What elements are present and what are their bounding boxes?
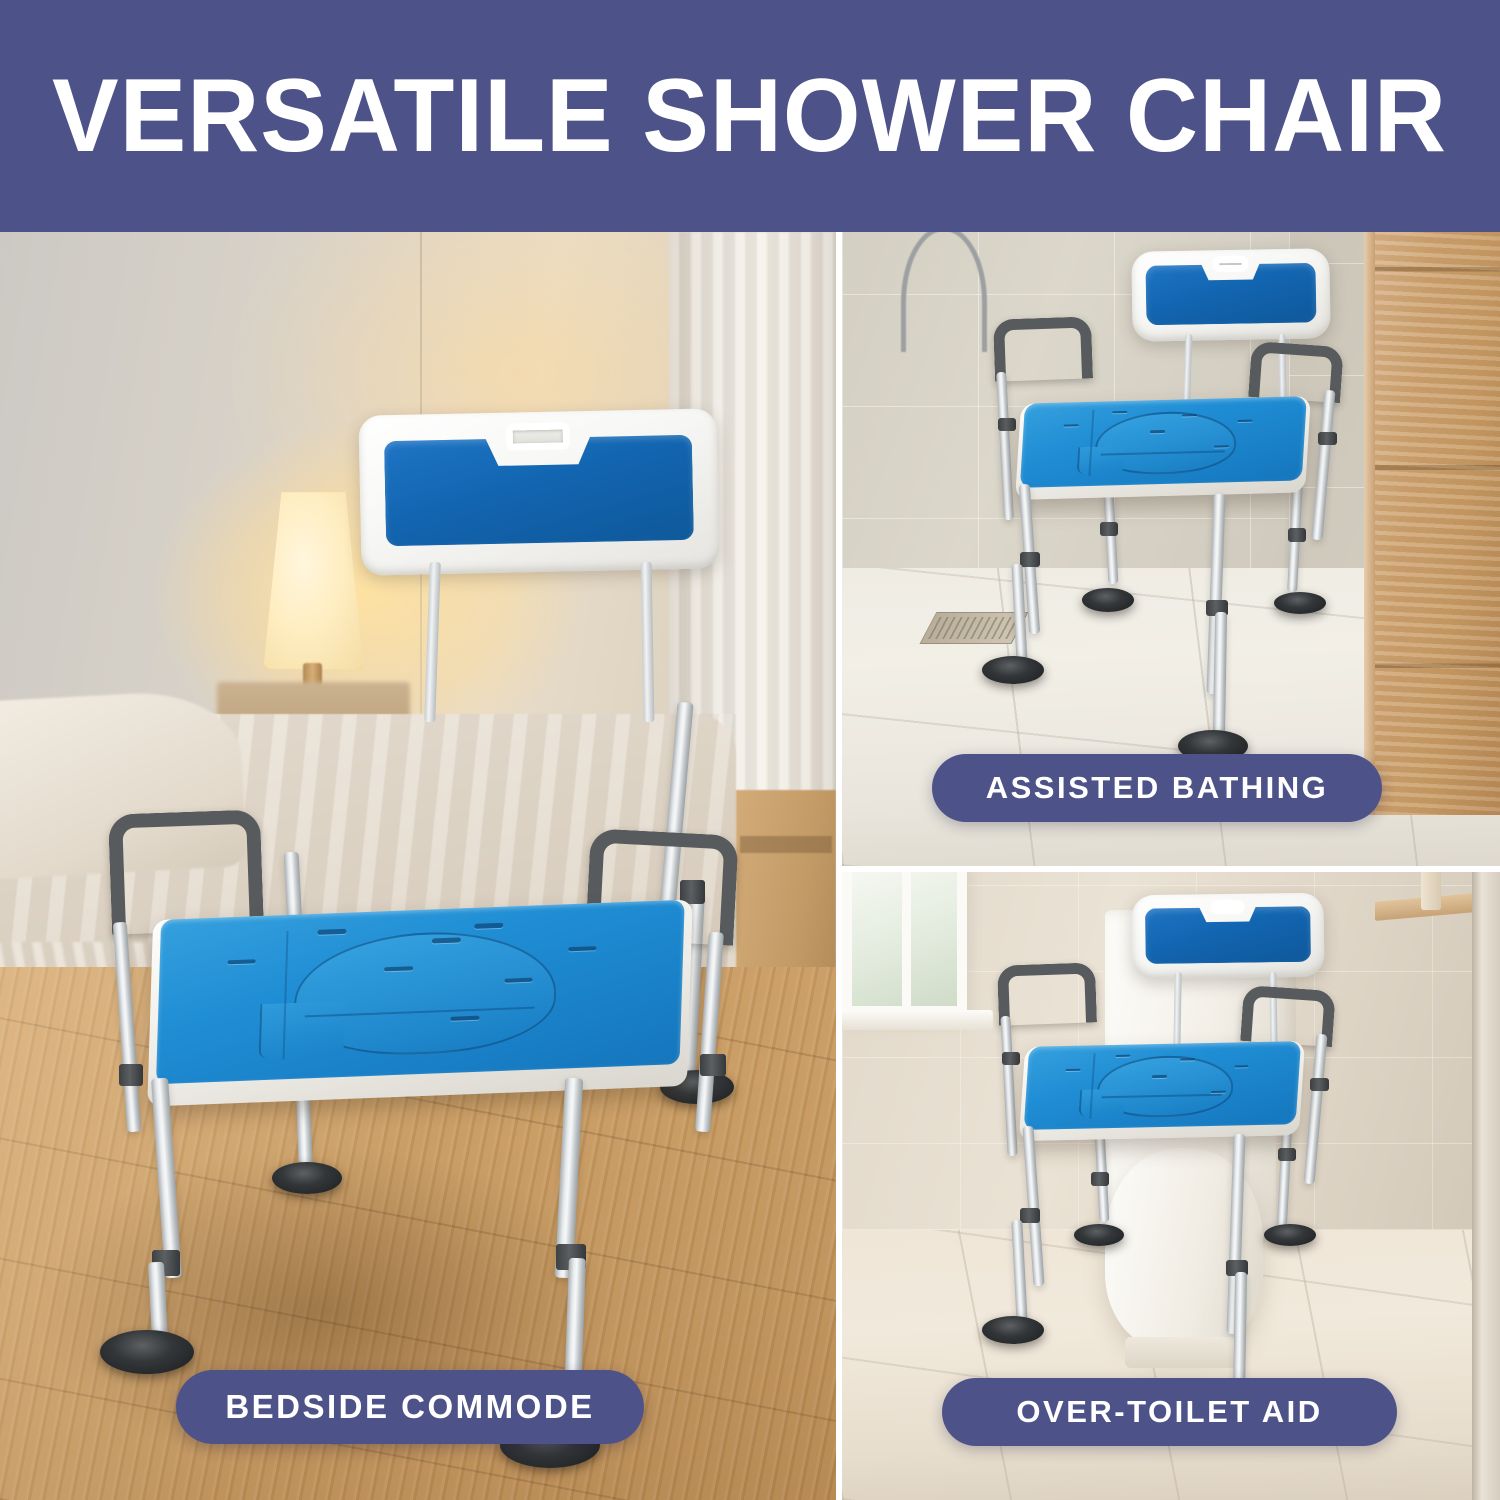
backrest-pad — [1145, 263, 1316, 325]
drainage-slot — [1238, 420, 1253, 423]
suction-cup-foot-rear-left — [1082, 588, 1134, 612]
seat-surface — [1020, 396, 1306, 488]
leg-collar-front-left — [1020, 1208, 1040, 1223]
backrest-pad — [384, 434, 694, 546]
armrest-collar-right — [1310, 1078, 1329, 1091]
backrest-post-right — [641, 562, 655, 722]
panel-over-toilet-aid[interactable]: OVER-TOILET AID — [842, 872, 1500, 1500]
seat-cutout-opening — [293, 928, 559, 1059]
leg-collar-rear-right — [1278, 1148, 1296, 1161]
drainage-slot — [318, 929, 346, 934]
drainage-slot — [1066, 1069, 1081, 1071]
drainage-slot — [1152, 1075, 1167, 1077]
seat-surface — [1024, 1041, 1301, 1130]
armrest-collar-right — [700, 1054, 726, 1076]
seat-cutout-opening — [1095, 1054, 1235, 1118]
armrest-collar-left — [1002, 1052, 1020, 1065]
leg-collar-rear-left — [1091, 1172, 1109, 1186]
page-title: VERSATILE SHOWER CHAIR — [53, 64, 1448, 168]
backrest-frame — [1131, 248, 1331, 341]
badge-over-toilet-aid[interactable]: OVER-TOILET AID — [942, 1378, 1397, 1446]
marketing-collage: VERSATILE SHOWER CHAIR — [0, 0, 1500, 1500]
backrest-post-left — [1173, 972, 1181, 1054]
backrest-pad — [1145, 906, 1311, 964]
armrest-support-left — [996, 372, 1014, 520]
backrest-post-left — [424, 562, 441, 722]
drainage-slot — [1180, 1058, 1195, 1060]
drainage-slot — [475, 923, 503, 928]
badge-assisted-bathing[interactable]: ASSISTED BATHING — [932, 754, 1382, 822]
panel-grid: BEDSIDE COMMODE — [0, 232, 1500, 1500]
drainage-slot — [1234, 1065, 1249, 1067]
padded-armrest-left[interactable] — [993, 316, 1093, 381]
front-leg-right-lower — [1213, 612, 1227, 740]
armrest-collar-left — [119, 1064, 143, 1086]
leg-collar-rear-right — [1288, 528, 1306, 542]
suction-cup-foot-rear-right — [1264, 1224, 1316, 1246]
suction-cup-foot-rear-right — [1274, 592, 1326, 614]
front-leg-left-upper — [1022, 1126, 1044, 1286]
front-leg-left-lower — [1011, 1220, 1027, 1324]
drainage-slot — [568, 946, 596, 951]
suction-cup-foot-front-left — [982, 1316, 1044, 1344]
badge-label: ASSISTED BATHING — [986, 770, 1329, 806]
panel-assisted-bathing[interactable]: ASSISTED BATHING — [842, 232, 1500, 866]
panel-bedside-commode[interactable]: BEDSIDE COMMODE — [0, 232, 836, 1500]
suction-cup-foot-rear-left — [272, 1162, 342, 1194]
shower-chair-bedside[interactable] — [0, 232, 836, 1500]
drainage-slot — [1211, 1091, 1226, 1093]
leg-collar-front-left — [1020, 552, 1040, 567]
suction-cup-foot-front-left — [982, 656, 1044, 684]
drainage-slot — [228, 959, 256, 964]
armrest-collar-left — [998, 418, 1016, 431]
suction-cup-foot-rear-left — [1074, 1224, 1124, 1246]
carry-handle-cutout-icon — [1210, 900, 1245, 915]
armrest-support-right — [1303, 1034, 1327, 1184]
seat-surface — [156, 900, 685, 1084]
front-leg-left-upper — [151, 1078, 182, 1279]
commode-seat[interactable] — [1015, 396, 1311, 500]
drainage-slot — [1115, 1055, 1130, 1057]
badge-bedside-commode[interactable]: BEDSIDE COMMODE — [176, 1370, 644, 1444]
badge-label: BEDSIDE COMMODE — [225, 1388, 594, 1426]
carry-handle-cutout-icon — [505, 423, 570, 452]
seat-cutout-opening — [1094, 410, 1238, 476]
padded-armrest-left[interactable] — [997, 962, 1097, 1025]
armrest-collar-right — [1318, 432, 1337, 445]
leg-collar-rear-left — [1100, 522, 1118, 536]
panel-divider-horizontal — [836, 866, 1500, 872]
badge-label: OVER-TOILET AID — [1016, 1394, 1322, 1430]
armrest-support-left — [1000, 1016, 1017, 1156]
drainage-slot — [1150, 430, 1165, 433]
drainage-slot — [1112, 411, 1127, 414]
armrest-support-left — [113, 922, 142, 1132]
carry-handle-cutout-icon — [1212, 256, 1248, 272]
commode-seat[interactable] — [1019, 1041, 1305, 1141]
drainage-slot — [1063, 424, 1078, 427]
backrest-frame — [1131, 893, 1324, 980]
backrest-frame — [358, 408, 719, 575]
suction-cup-foot-front-left — [100, 1330, 194, 1374]
header-banner: VERSATILE SHOWER CHAIR — [0, 0, 1500, 232]
armrest-support-right — [1311, 390, 1335, 540]
commode-seat[interactable] — [147, 899, 692, 1106]
